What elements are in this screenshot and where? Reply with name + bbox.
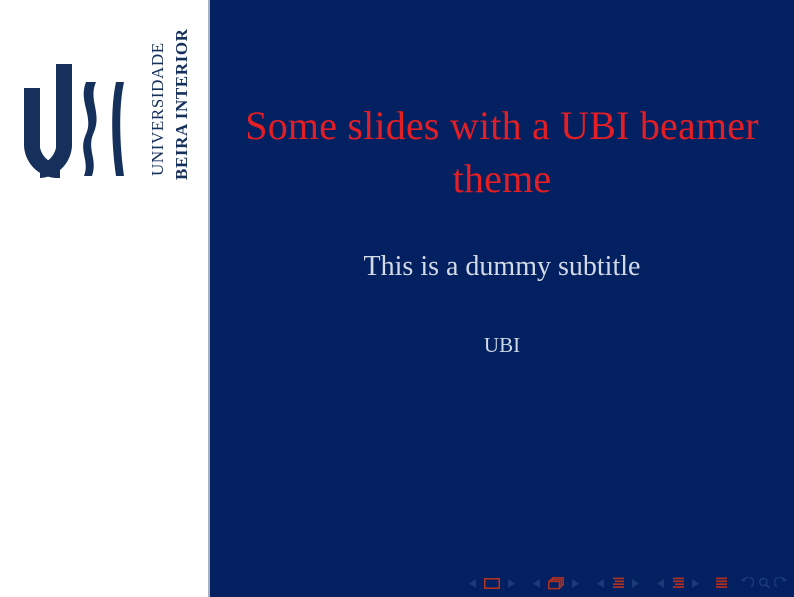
slide-content-panel: Some slides with a UBI beamer theme This… bbox=[210, 0, 794, 597]
beamer-navigation-bar[interactable] bbox=[466, 573, 788, 593]
nav-group-subsection bbox=[594, 575, 642, 591]
prev-slide-icon[interactable] bbox=[466, 575, 480, 591]
presentation-slide: UNIVERSIDADE BEIRA INTERIOR Some slides … bbox=[0, 0, 794, 597]
nav-group-slide bbox=[466, 575, 518, 591]
forward-arrow-icon[interactable] bbox=[774, 575, 788, 591]
ubi-logo-icon bbox=[16, 60, 138, 182]
search-icon[interactable] bbox=[757, 575, 771, 591]
slide-icon[interactable] bbox=[483, 575, 501, 591]
nav-group-presentation bbox=[714, 575, 728, 591]
next-section-icon[interactable] bbox=[688, 575, 702, 591]
frame-icon[interactable] bbox=[547, 575, 565, 591]
next-subsection-icon[interactable] bbox=[628, 575, 642, 591]
logo-wordmark-line-2: BEIRA INTERIOR bbox=[172, 28, 192, 180]
prev-section-icon[interactable] bbox=[654, 575, 668, 591]
nav-group-history bbox=[740, 575, 788, 591]
next-slide-icon[interactable] bbox=[504, 575, 518, 591]
slide-subtitle: This is a dummy subtitle bbox=[210, 251, 794, 283]
next-frame-icon[interactable] bbox=[568, 575, 582, 591]
logo-wordmark-line-1: UNIVERSIDADE bbox=[148, 42, 168, 176]
presentation-icon[interactable] bbox=[714, 575, 728, 591]
slide-author: UBI bbox=[210, 333, 794, 358]
section-icon[interactable] bbox=[671, 575, 685, 591]
logo-wordmark: UNIVERSIDADE BEIRA INTERIOR bbox=[126, 4, 216, 184]
subsection-icon[interactable] bbox=[611, 575, 625, 591]
slide-title: Some slides with a UBI beamer theme bbox=[210, 100, 794, 206]
logo-panel: UNIVERSIDADE BEIRA INTERIOR bbox=[0, 0, 210, 597]
title-block: Some slides with a UBI beamer theme bbox=[210, 100, 794, 206]
back-arrow-icon[interactable] bbox=[740, 575, 754, 591]
prev-subsection-icon[interactable] bbox=[594, 575, 608, 591]
prev-frame-icon[interactable] bbox=[530, 575, 544, 591]
nav-group-frame bbox=[530, 575, 582, 591]
nav-group-section bbox=[654, 575, 702, 591]
